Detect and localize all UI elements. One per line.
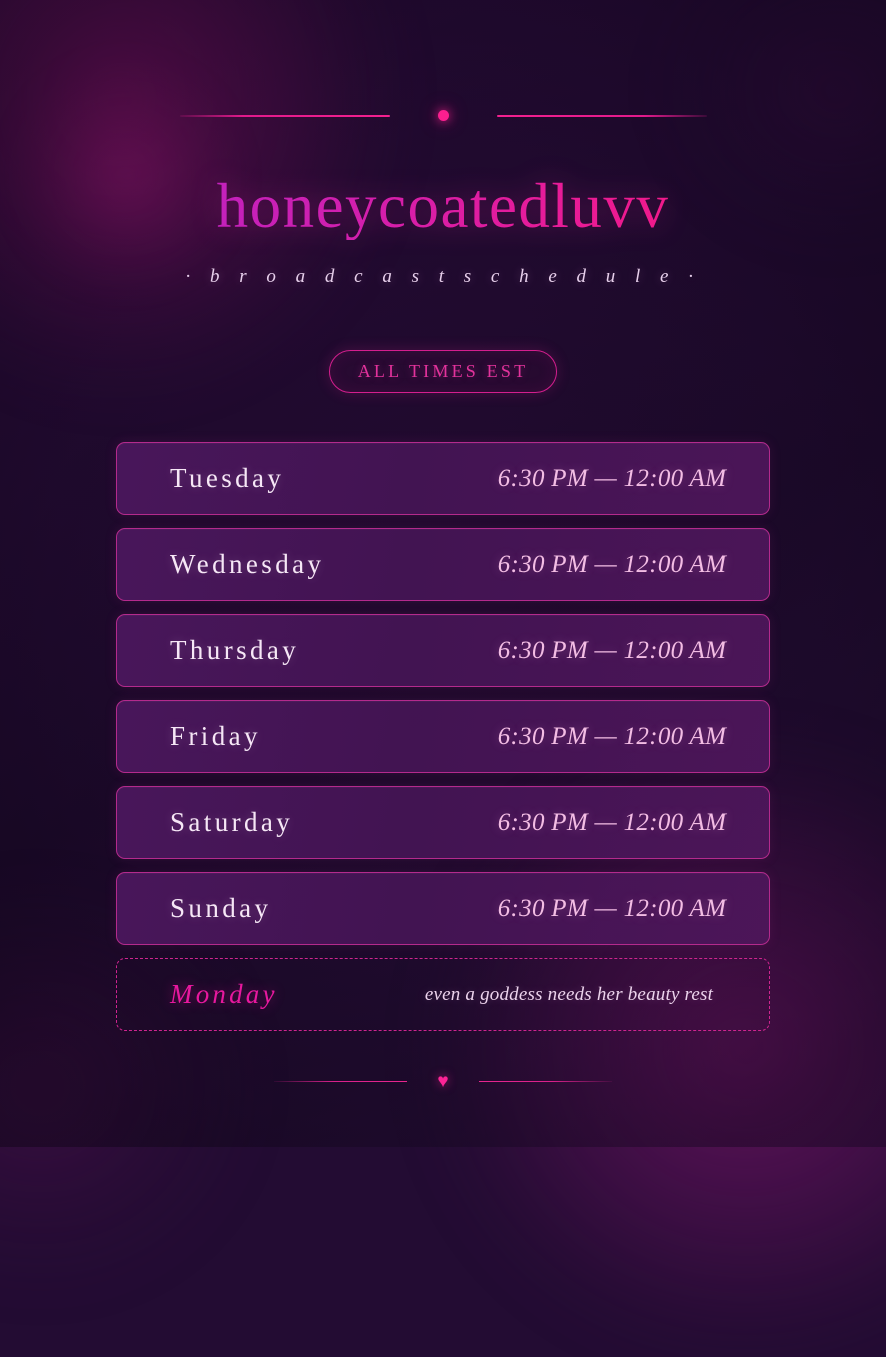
day-label: Tuesday [170,463,284,494]
time-label: 6:30 PM — 12:00 AM [473,637,751,665]
footer-ornament: ♥ [0,1072,886,1091]
schedule-page: honeycoatedluvv · b r o a d c a s t s c … [0,0,886,1147]
day-label: Saturday [170,807,293,838]
page-subtitle: · b r o a d c a s t s c h e d u l e · [0,266,886,288]
dot-icon [438,110,449,121]
offday-note: even a goddess needs her beauty rest [367,984,771,1006]
schedule-row-saturday: Saturday 6:30 PM — 12:00 AM [116,786,770,859]
header-ornament [0,110,886,121]
schedule-row-monday-offday: Monday even a goddess needs her beauty r… [116,958,770,1031]
timezone-badge-wrapper: ALL TIMES EST [0,350,886,393]
time-label: 6:30 PM — 12:00 AM [473,465,751,493]
heart-icon: ♥ [437,1072,448,1091]
status-badge: ALL TIMES EST [329,350,558,393]
page-title: honeycoatedluvv [0,172,886,240]
schedule-list: Tuesday 6:30 PM — 12:00 AM Wednesday 6:3… [116,442,770,1044]
schedule-row-sunday: Sunday 6:30 PM — 12:00 AM [116,872,770,945]
time-label: 6:30 PM — 12:00 AM [473,895,751,923]
schedule-row-friday: Friday 6:30 PM — 12:00 AM [116,700,770,773]
ornament-line-left [180,115,390,117]
footer-line-right [479,1081,612,1083]
time-label: 6:30 PM — 12:00 AM [473,551,751,579]
time-label: 6:30 PM — 12:00 AM [473,723,751,751]
schedule-row-wednesday: Wednesday 6:30 PM — 12:00 AM [116,528,770,601]
schedule-row-tuesday: Tuesday 6:30 PM — 12:00 AM [116,442,770,515]
day-label: Sunday [170,893,271,924]
time-label: 6:30 PM — 12:00 AM [473,809,751,837]
schedule-row-thursday: Thursday 6:30 PM — 12:00 AM [116,614,770,687]
ornament-line-right [497,115,707,117]
footer-line-left [274,1081,407,1083]
day-label: Thursday [170,635,299,666]
day-label: Friday [170,721,261,752]
day-label: Monday [170,979,278,1010]
day-label: Wednesday [170,549,324,580]
